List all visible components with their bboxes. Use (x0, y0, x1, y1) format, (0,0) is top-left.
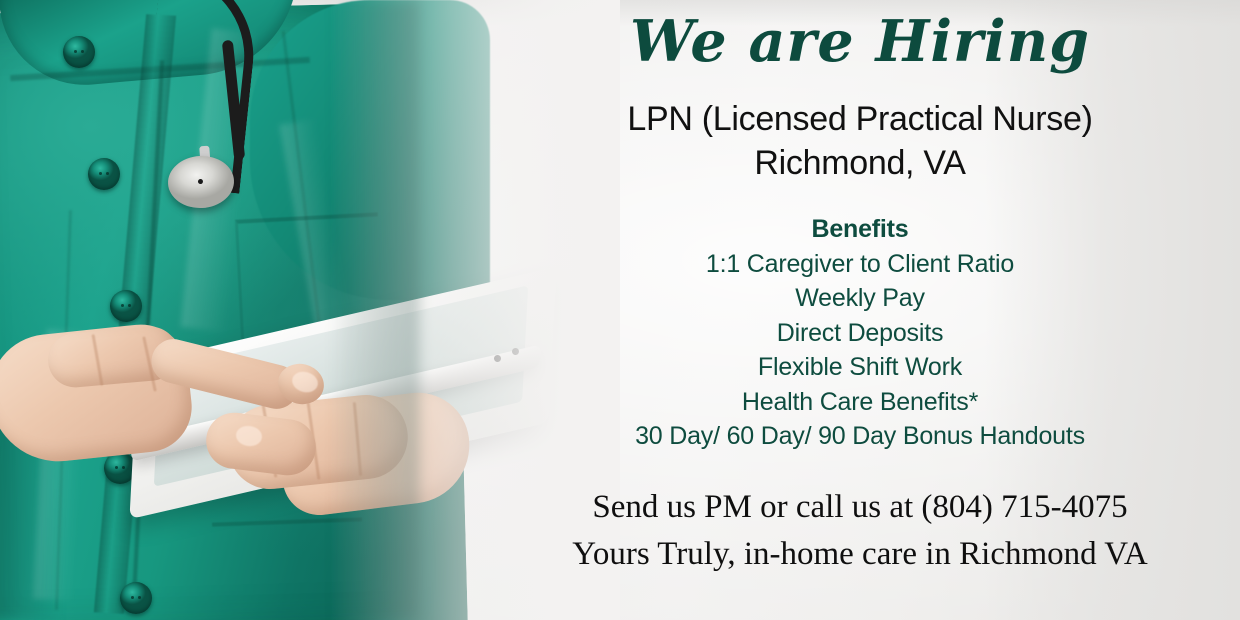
benefit-item: 1:1 Caregiver to Client Ratio (480, 247, 1240, 282)
contact-phone-line: Send us PM or call us at (804) 715-4075 (480, 484, 1240, 531)
hiring-poster: We are Hiring LPN (Licensed Practical Nu… (0, 0, 1240, 620)
scrub-button-icon (120, 582, 152, 614)
benefit-item: 30 Day/ 60 Day/ 90 Day Bonus Handouts (480, 419, 1240, 454)
job-location: Richmond, VA (480, 141, 1240, 185)
scrub-button-icon (110, 290, 142, 322)
page-title: We are Hiring (480, 12, 1240, 72)
job-role-block: LPN (Licensed Practical Nurse) Richmond,… (480, 97, 1240, 185)
scrub-button-icon (88, 158, 120, 190)
poster-text-column: We are Hiring LPN (Licensed Practical Nu… (480, 0, 1240, 620)
contact-signature-line: Yours Truly, in-home care in Richmond VA (480, 531, 1240, 578)
benefits-block: Benefits 1:1 Caregiver to Client Ratio W… (480, 212, 1240, 454)
benefit-item: Health Care Benefits* (480, 385, 1240, 420)
job-title: LPN (Licensed Practical Nurse) (627, 100, 1092, 138)
photo-shadow (330, 0, 420, 620)
benefits-heading: Benefits (480, 212, 1240, 247)
contact-block: Send us PM or call us at (804) 715-4075 … (480, 484, 1240, 578)
benefit-item: Weekly Pay (480, 281, 1240, 316)
scrub-button-icon (63, 36, 95, 68)
benefit-item: Flexible Shift Work (480, 350, 1240, 385)
benefit-item: Direct Deposits (480, 316, 1240, 351)
